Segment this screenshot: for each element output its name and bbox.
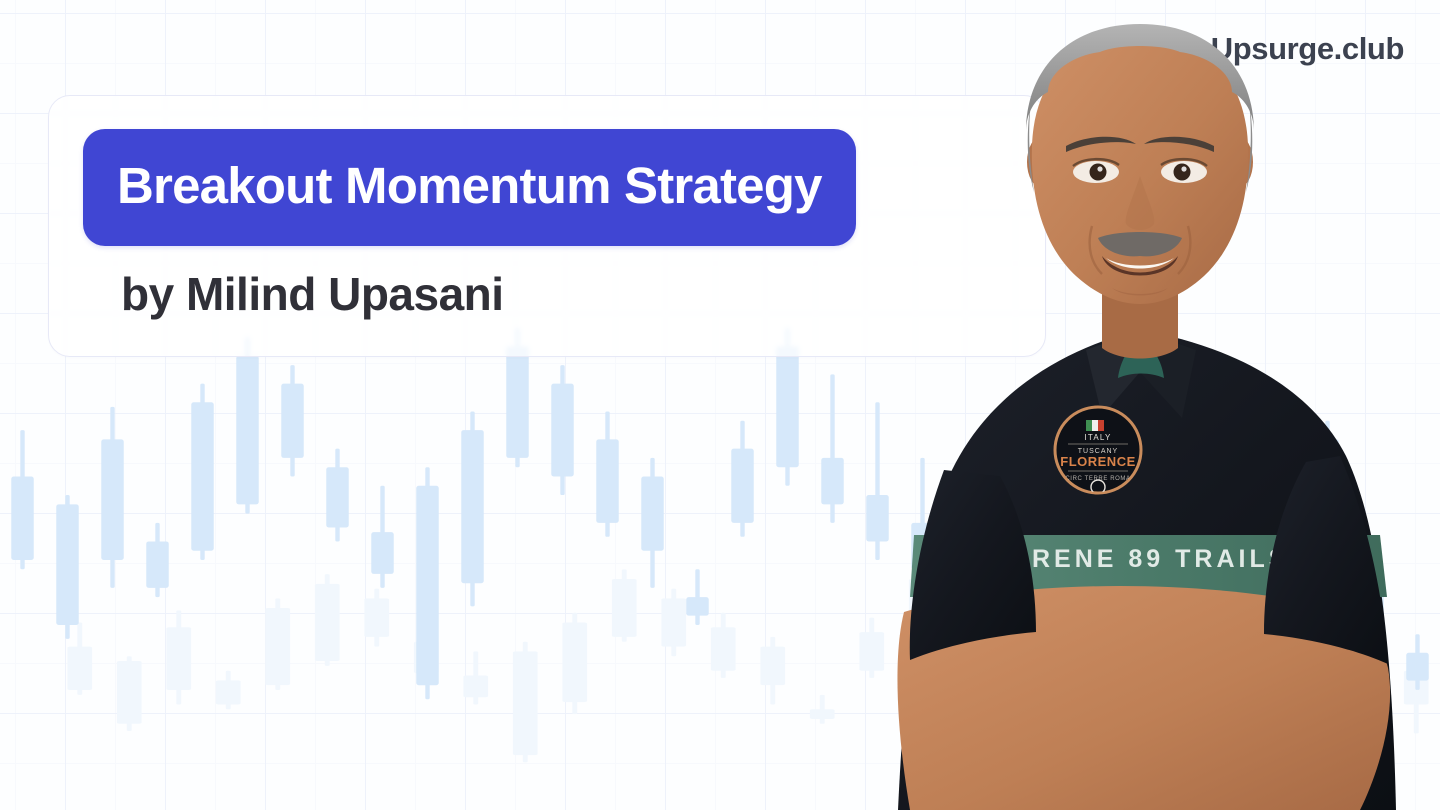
candle-body [1091,662,1114,694]
candle-body [1136,588,1159,672]
candle-body [760,647,785,686]
background-candlestick-chart [0,310,1440,810]
candle-body [551,384,574,477]
candle-body [1226,523,1249,588]
candle-body [1001,588,1024,634]
candle-body [909,579,934,642]
candle-body [612,579,637,637]
candle-body [315,584,340,661]
candle-body [506,347,529,458]
candle-body [461,430,484,583]
candle-body [101,439,124,560]
candle-body [416,486,439,686]
upsurge-logo-svg [1151,26,1197,72]
upsurge-u-arrow-logo-icon [1151,26,1197,72]
candle-body [1156,704,1181,728]
title-card: Breakout Momentum Strategy by Milind Upa… [48,95,1046,357]
candle-body [146,541,169,587]
candle-body [911,523,934,569]
brand-name: Upsurge.club [1211,31,1404,67]
candle-body [958,637,983,661]
candle-body [866,495,889,541]
candle-body [1046,616,1069,709]
ear-right [1223,136,1253,188]
candle-wick [820,695,825,724]
brand-lockup[interactable]: Upsurge.club [1151,26,1404,72]
candle-body [1271,504,1294,569]
candle-body [236,356,259,504]
candle-body [1305,704,1330,747]
candle-body [1255,743,1280,760]
candle-body [1354,680,1379,714]
candle-body [1008,656,1033,680]
candle-body [711,627,736,670]
candle-body [166,627,191,690]
video-thumbnail-canvas: Breakout Momentum Strategy by Milind Upa… [0,0,1440,810]
candle-body [216,680,241,704]
candle-body [364,598,389,637]
candle-layer-ghost [67,569,1440,777]
candle-body [661,598,686,646]
candle-body [859,632,884,671]
candle-body [776,347,799,468]
iris-right [1174,164,1191,181]
candle-body [265,608,290,685]
hair-sideburn-right [1246,96,1252,192]
course-byline: by Milind Upasani [121,271,504,317]
presenter-mouth [1102,256,1178,276]
eyebrow-left [1066,137,1136,152]
eye-white-left [1073,161,1119,183]
candle-body [1107,695,1132,709]
candle-body [1181,541,1204,606]
candle-body [810,709,835,719]
course-title-badge: Breakout Momentum Strategy [83,129,856,246]
candle-body [56,504,79,625]
candle-body [326,467,349,527]
course-title: Breakout Momentum Strategy [117,160,822,211]
iris-left [1090,164,1107,181]
candlestick-svg [0,310,1440,810]
candle-body [67,647,92,690]
candle-body [117,661,142,724]
candle-body [1206,719,1231,767]
eye-white-right [1161,161,1207,183]
candle-body [731,449,754,523]
presenter-mustache [1098,232,1182,256]
candle-body [641,476,664,550]
candle-body [821,458,844,504]
candle-body [1316,439,1339,532]
eyebrow-right [1144,137,1214,152]
candle-body [562,622,587,702]
candle-body [1361,569,1384,634]
candle-body [513,651,538,755]
candle-body [371,532,394,574]
presenter-teeth [1106,258,1174,269]
presenter-nose [1126,176,1155,230]
presenter-face [1032,34,1248,304]
candle-body [281,384,304,458]
candle-body [686,597,709,616]
candle-body [596,439,619,523]
candle-body [956,569,979,597]
candle-body [11,476,34,560]
candle-body [463,676,488,698]
candle-body [191,402,214,550]
candle-body [1406,653,1429,681]
